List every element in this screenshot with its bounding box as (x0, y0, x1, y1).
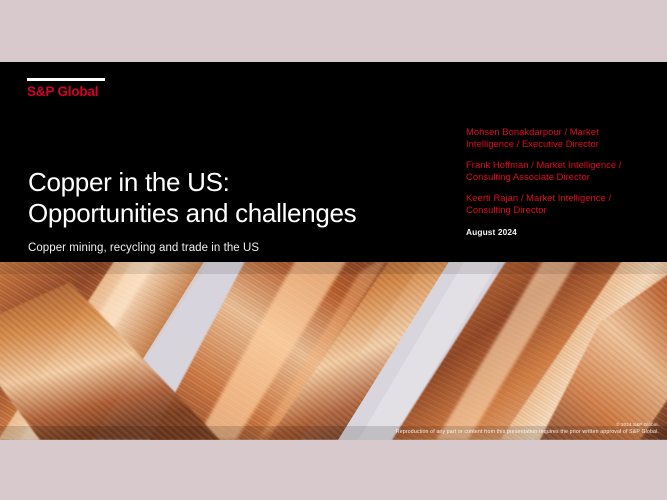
authors-block: Mohsen Bonakdarpour / Market Intelligenc… (466, 126, 644, 237)
copper-wire-photo: © 2024 S&P Global. Reproduction of any p… (0, 262, 667, 440)
disclaimer-block: © 2024 S&P Global. Reproduction of any p… (319, 422, 659, 437)
author-credit: Frank Hoffman / Market Intelligence / Co… (466, 159, 644, 184)
copyright-line: © 2024 S&P Global. (319, 422, 659, 429)
slide-date: August 2024 (466, 227, 644, 237)
logo-rule (27, 78, 105, 81)
slide-subtitle: Copper mining, recycling and trade in th… (28, 241, 448, 256)
copper-wire-illustration (0, 262, 667, 440)
logo-wordmark: S&P Global (27, 84, 105, 99)
page-title: Copper in the US: Opportunities and chal… (28, 167, 448, 228)
author-credit: Keerti Rajan / Market Intelligence / Con… (466, 192, 644, 217)
reproduction-notice: Reproduction of any part or content from… (319, 429, 659, 437)
screenshot-viewport: S&P Global Copper in the US: Opportuniti… (0, 0, 667, 500)
author-credit: Mohsen Bonakdarpour / Market Intelligenc… (466, 126, 644, 151)
sp-global-logo: S&P Global (27, 78, 105, 99)
headline-block: Copper in the US: Opportunities and chal… (28, 167, 448, 256)
presentation-slide: S&P Global Copper in the US: Opportuniti… (0, 62, 667, 440)
